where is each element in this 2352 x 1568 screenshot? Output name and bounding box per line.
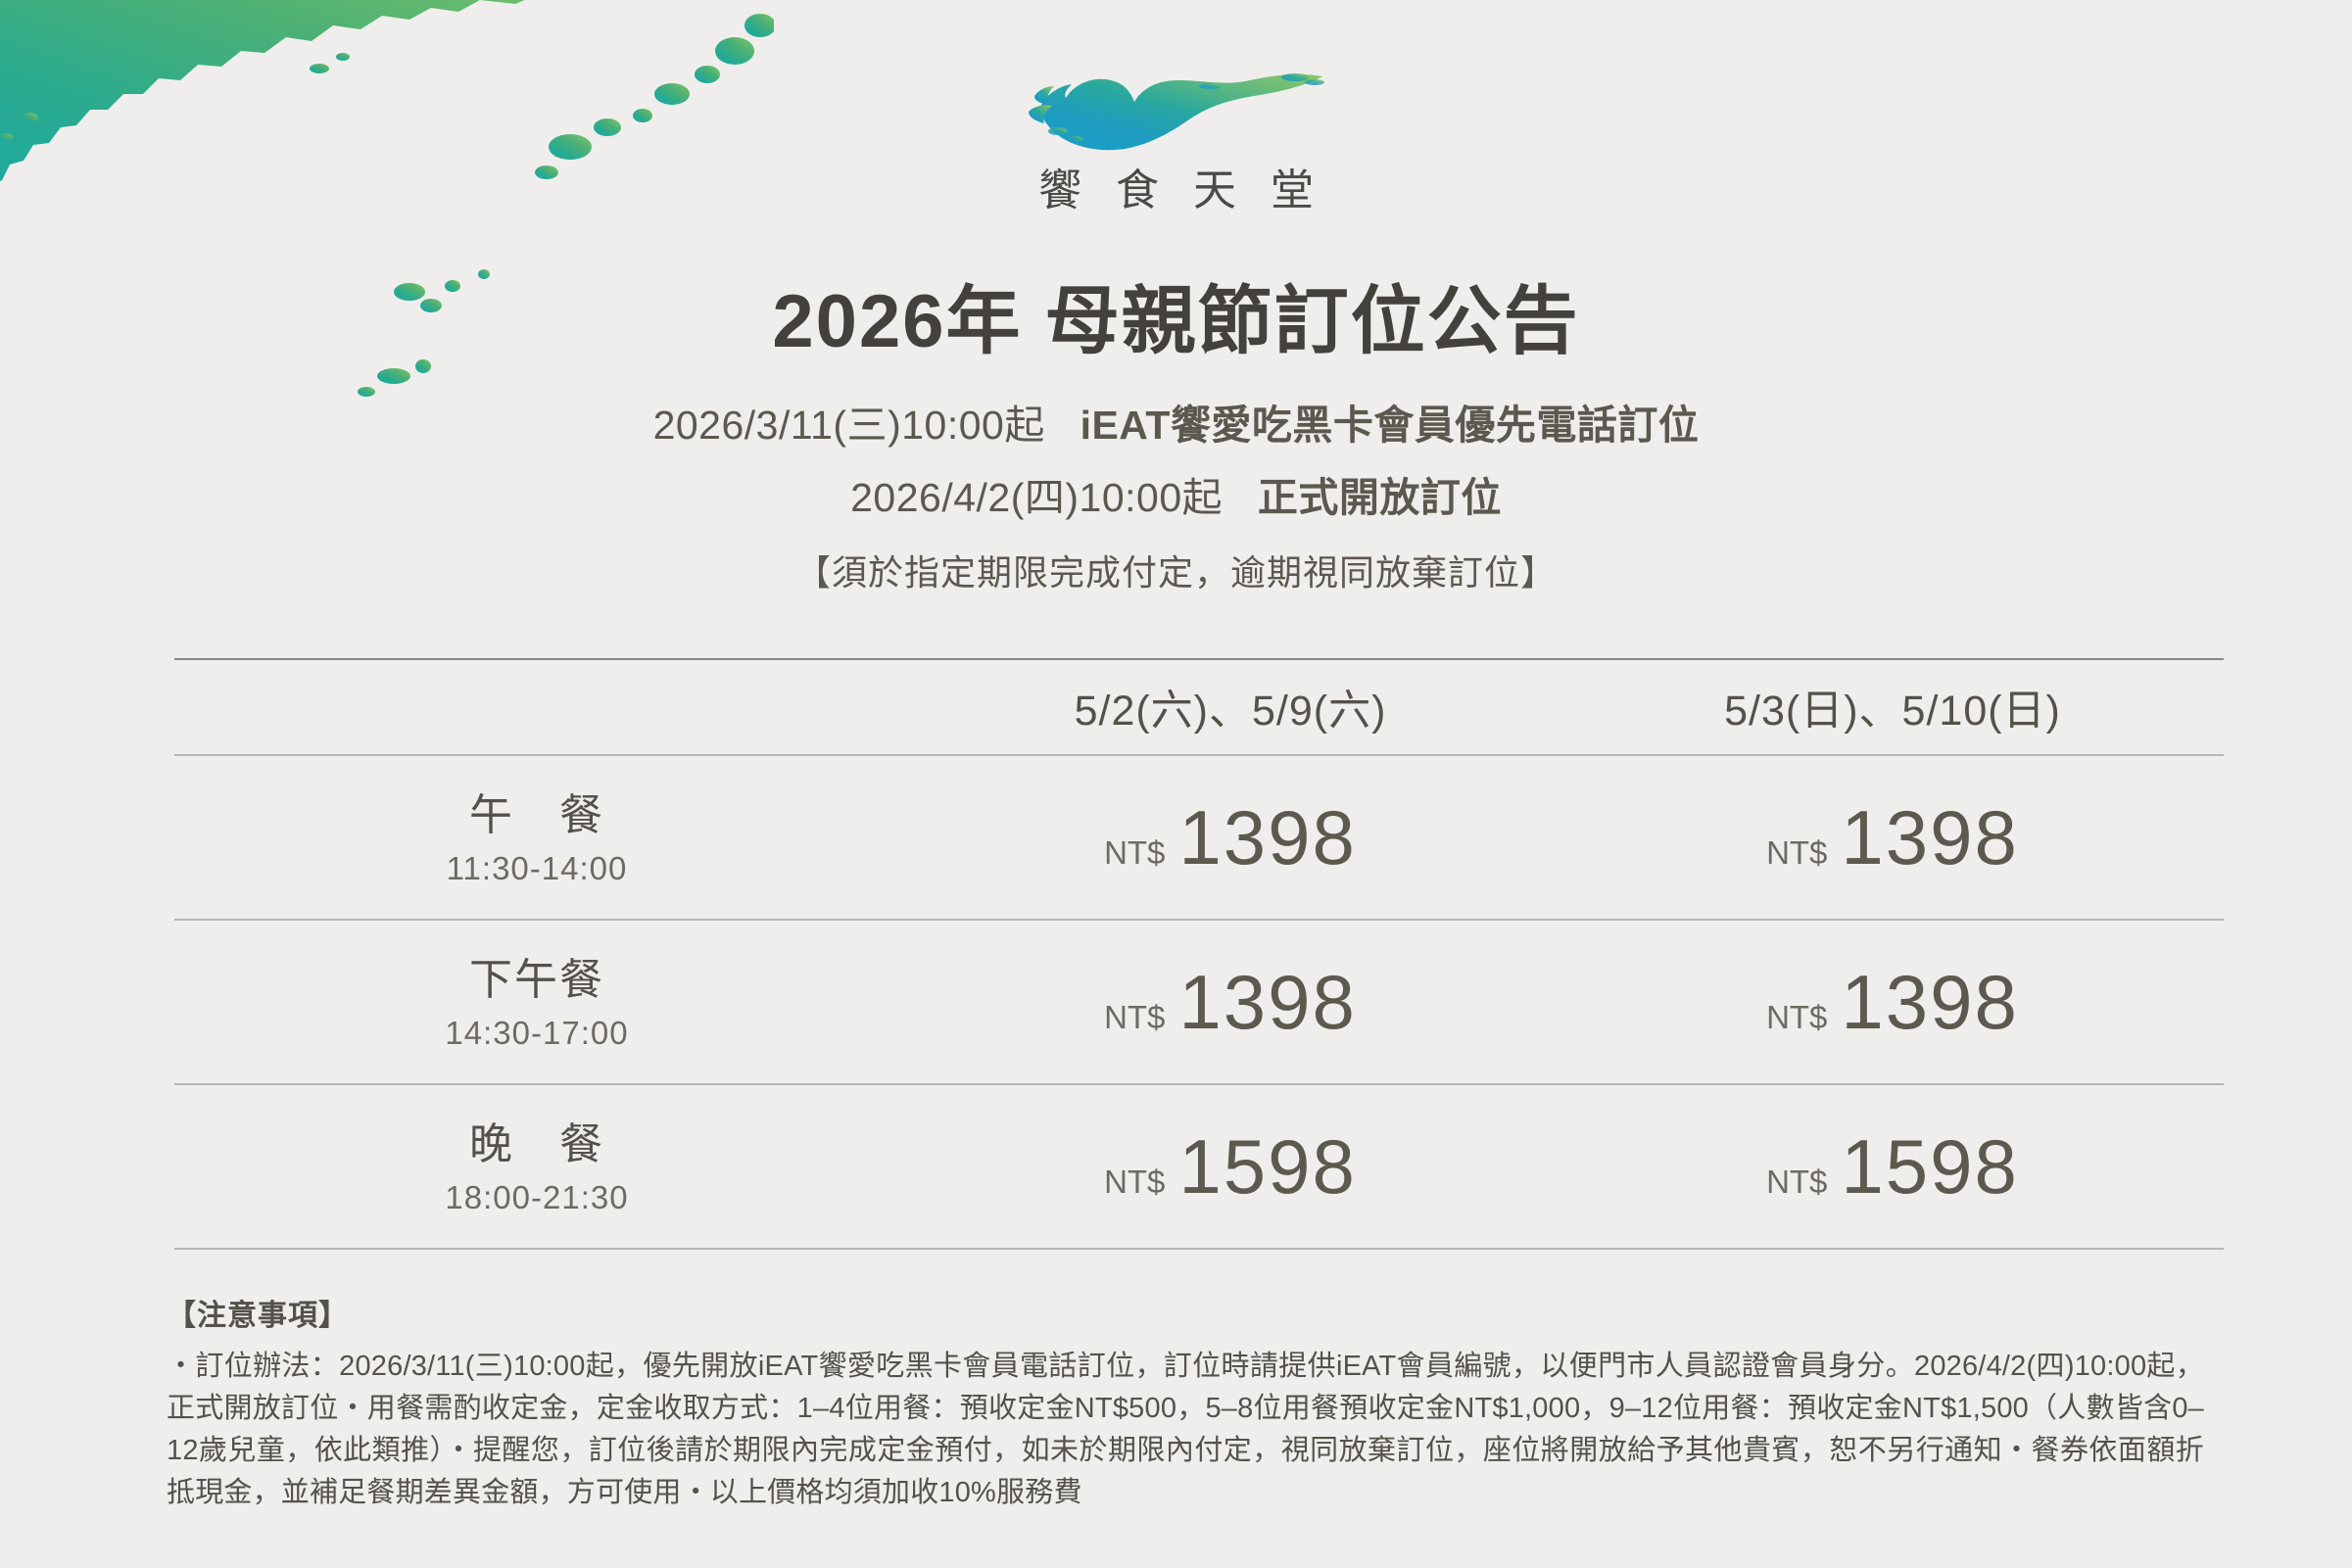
price-amount: 1598 [1178, 1122, 1357, 1212]
meal-name: 午 餐 [174, 788, 899, 842]
meal-time: 11:30-14:00 [174, 850, 899, 887]
brand-name: 饗 食 天 堂 [0, 155, 2352, 217]
header-blank [174, 659, 899, 755]
currency-label: NT$ [1104, 1164, 1165, 1201]
footnotes-body: ・訂位辦法：2026/3/11(三)10:00起，優先開放iEAT饗愛吃黑卡會員… [167, 1346, 2204, 1514]
price-dinner-sunday: NT$ 1598 [1561, 1084, 2224, 1249]
poster-canvas: 饗 食 天 堂 2026年 母親節訂位公告 2026/3/11(三)10:00起… [0, 0, 2352, 1568]
brand-logo: 饗 食 天 堂 [0, 47, 2352, 217]
price-lunch-saturday: NT$ 1398 [899, 755, 1561, 920]
price-amount: 1598 [1841, 1122, 2019, 1212]
header-sunday: 5/3(日)、5/10(日) [1561, 659, 2224, 755]
meal-name: 下午餐 [174, 953, 899, 1007]
footnotes-title: 【注意事項】 [167, 1291, 2204, 1334]
price-amount: 1398 [1841, 793, 2019, 882]
meal-dinner: 晚 餐 18:00-21:30 [174, 1084, 899, 1249]
meal-time: 14:30-17:00 [174, 1015, 899, 1052]
table-row: 午 餐 11:30-14:00 NT$ 1398 NT$ 1398 [174, 755, 2224, 920]
watercolor-brush-stroke-icon [1015, 47, 1338, 163]
table-row: 晚 餐 18:00-21:30 NT$ 1598 NT$ 1598 [174, 1084, 2224, 1249]
table-row: 下午餐 14:30-17:00 NT$ 1398 NT$ 1398 [174, 920, 2224, 1084]
currency-label: NT$ [1766, 999, 1827, 1036]
announcement-headings: 2026年 母親節訂位公告 2026/3/11(三)10:00起 iEAT饗愛吃… [0, 277, 2352, 595]
meal-time: 18:00-21:30 [174, 1179, 899, 1216]
price-amount: 1398 [1178, 793, 1357, 882]
currency-label: NT$ [1104, 999, 1165, 1036]
price-lunch-sunday: NT$ 1398 [1561, 755, 2224, 920]
header-saturday: 5/2(六)、5/9(六) [899, 659, 1561, 755]
phase-2-date: 2026/4/2(四)10:00起 [850, 475, 1223, 520]
page-title: 2026年 母親節訂位公告 [0, 277, 2352, 366]
price-afternoon-saturday: NT$ 1398 [899, 920, 1561, 1084]
footnotes-section: 【注意事項】 ・訂位辦法：2026/3/11(三)10:00起，優先開放iEAT… [167, 1291, 2204, 1514]
table-header-row: 5/2(六)、5/9(六) 5/3(日)、5/10(日) [174, 659, 2224, 755]
currency-label: NT$ [1766, 834, 1827, 872]
price-dinner-saturday: NT$ 1598 [899, 1084, 1561, 1249]
meal-afternoon: 下午餐 14:30-17:00 [174, 920, 899, 1084]
phase-1-date: 2026/3/11(三)10:00起 [653, 403, 1045, 448]
price-afternoon-sunday: NT$ 1398 [1561, 920, 2224, 1084]
reservation-phase-2: 2026/4/2(四)10:00起 正式開放訂位 [0, 464, 2352, 523]
meal-lunch: 午 餐 11:30-14:00 [174, 755, 899, 920]
price-amount: 1398 [1178, 958, 1357, 1047]
meal-name: 晚 餐 [174, 1117, 899, 1171]
phase-2-description: 正式開放訂位 [1258, 475, 1502, 520]
price-amount: 1398 [1841, 958, 2019, 1047]
currency-label: NT$ [1104, 834, 1165, 872]
currency-label: NT$ [1766, 1164, 1827, 1201]
reservation-phase-1: 2026/3/11(三)10:00起 iEAT饗愛吃黑卡會員優先電話訂位 [0, 392, 2352, 451]
deposit-deadline-note: 【須於指定期限完成付定，逾期視同放棄訂位】 [0, 545, 2352, 595]
phase-1-description: iEAT饗愛吃黑卡會員優先電話訂位 [1080, 403, 1700, 448]
pricing-table: 5/2(六)、5/9(六) 5/3(日)、5/10(日) 午 餐 11:30-1… [174, 658, 2224, 1250]
